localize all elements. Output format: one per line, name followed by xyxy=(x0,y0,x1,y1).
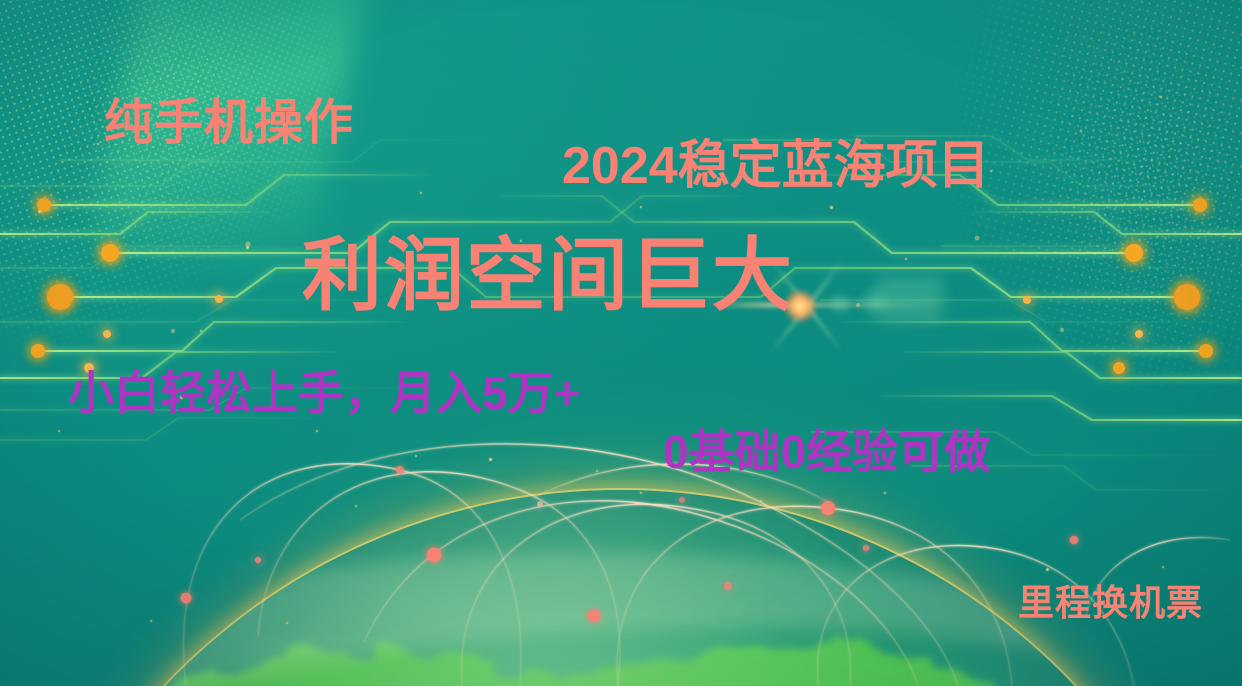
subheadline-easy-start: 小白轻松上手，月入5万+ xyxy=(68,370,580,416)
footer-miles-ticket: 里程换机票 xyxy=(1018,585,1203,621)
promo-banner: 纯手机操作 2024稳定蓝海项目 利润空间巨大 小白轻松上手，月入5万+ 0基础… xyxy=(0,0,1242,686)
subheadline-zero-base: 0基础0经验可做 xyxy=(663,429,990,475)
headline-profit-huge: 利润空间巨大 xyxy=(302,236,794,316)
headline-pure-mobile: 纯手机操作 xyxy=(104,99,354,148)
headline-year-project: 2024稳定蓝海项目 xyxy=(562,140,990,192)
